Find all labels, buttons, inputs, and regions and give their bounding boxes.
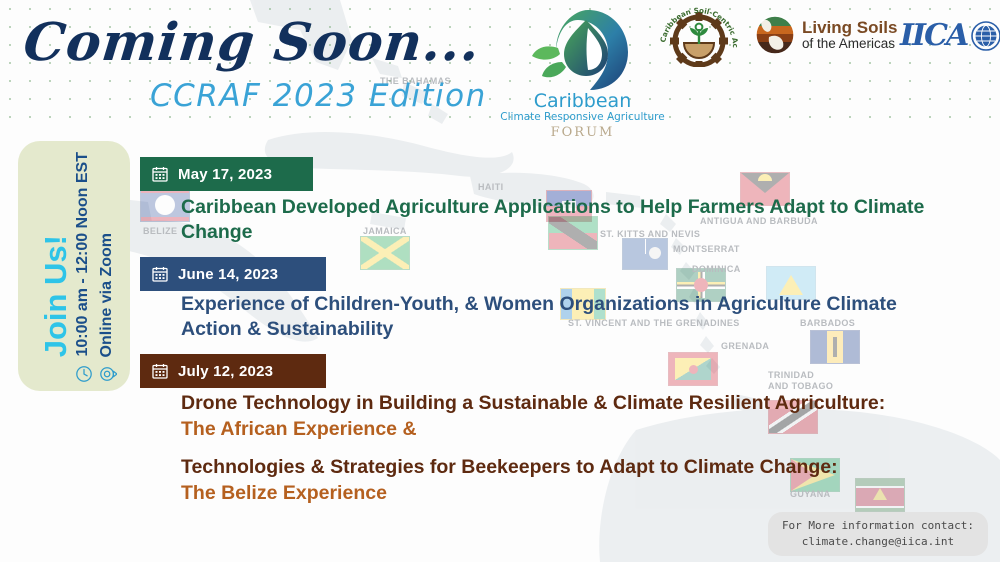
living-soils-line2: of the Americas [802,37,897,52]
contact-email[interactable]: climate.change@iica.int [782,534,974,550]
ccraf-logo-subtitle: Climate Responsive Agriculture [495,112,670,124]
session-title-2: Experience of Children-Youth, & Women Or… [181,292,961,343]
date-label: May 17, 2023 [178,166,272,183]
calendar-icon [152,166,168,182]
event-time: 10:00 am - 12:00 Noon EST [74,152,92,357]
calendar-icon [152,363,168,379]
date-badge-session-3: July 12, 2023 [140,354,326,388]
map-label: DOMINICA [692,264,741,274]
page-title: Coming Soon... [21,12,484,73]
map-label: HAITI [478,182,504,192]
map-label: BELIZE [143,226,177,236]
living-soils-line1: Living Soils [802,19,897,37]
session-title-3b: Technologies & Strategies for Beekeepers… [181,455,981,480]
session-title-1: Caribbean Developed Agriculture Applicat… [181,195,971,246]
gear-sprout-icon: Caribbean Soil-Centric Actions [655,5,743,67]
calendar-icon [152,266,168,282]
session-title-3a: Drone Technology in Building a Sustainab… [181,391,981,416]
date-badge-session-2: June 14, 2023 [140,257,326,291]
session-subtitle-3b: The Belize Experience [181,481,781,506]
iica-logo: IICA [900,18,1000,53]
flag-suriname [855,478,905,512]
map-label: TRINIDAD [768,370,814,380]
map-label: GUYANA [790,489,831,499]
ccraf-logo-forum: FORUM [495,125,670,140]
date-label: June 14, 2023 [178,266,278,283]
contact-line1: For More information contact: [782,518,974,534]
contact-info: For More information contact: climate.ch… [768,512,988,556]
globe-seal-icon [971,21,1000,51]
clock-icon [75,365,93,383]
date-label: July 12, 2023 [178,363,273,380]
iica-wordmark: IICA [900,18,967,53]
event-platform: Online via Zoom [98,233,116,357]
join-us-heading: Join Us! [38,235,74,357]
living-soils-logo: Living Soils of the Americas [755,14,897,56]
water-drop-leaf-icon [528,4,638,96]
poster-canvas: THE BAHAMAS BELIZE HAITI JAMAICA ST. KIT… [0,0,1000,562]
video-camera-icon [99,365,117,383]
edition-subtitle: CCRAF 2023 Edition [150,78,487,114]
date-badge-session-1: May 17, 2023 [140,157,313,191]
session-subtitle-3a: The African Experience & [181,417,781,442]
ccraf-logo: Caribbean Climate Responsive Agriculture… [495,4,670,144]
soil-layers-icon [755,15,795,55]
caribbean-soil-centric-actions-logo: Caribbean Soil-Centric Actions [655,5,743,67]
map-label: AND TOBAGO [768,381,833,391]
flag-grenada [668,352,718,386]
join-us-panel: Join Us! 10:00 am - 12:00 Noon EST Onlin… [18,141,130,391]
